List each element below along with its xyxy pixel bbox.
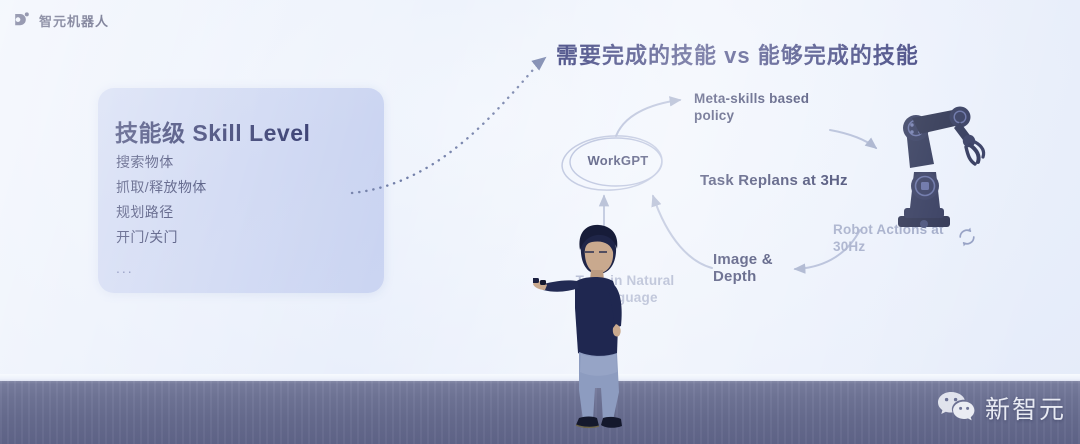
list-item: 搜索物体 (116, 150, 366, 175)
list-item: 开门/关门 (116, 225, 366, 250)
label-line: Meta-skills based (694, 90, 809, 107)
label-line: 30Hz (833, 238, 944, 255)
label-image-depth: Image & Depth (713, 251, 773, 285)
robot-arm-icon (880, 98, 990, 233)
presentation-screenshot: 智元机器人 技能级 Skill Level 搜索物体 抓取/释放物体 规划路径 … (0, 0, 1080, 444)
brand-logo: 智元机器人 (12, 10, 109, 30)
label-task-replans: Task Replans at 3Hz (700, 172, 848, 189)
wechat-icon (937, 389, 977, 426)
label-line: policy (694, 107, 809, 124)
label-meta-skills-policy: Meta-skills based policy (694, 90, 809, 124)
watermark-text: 新智元 (985, 390, 1066, 426)
dcircle-logo-icon (12, 10, 32, 30)
skill-level-card: 技能级 Skill Level 搜索物体 抓取/释放物体 规划路径 开门/关门 … (98, 88, 384, 293)
label-line: Image & (713, 251, 773, 268)
slide-headline: 需要完成的技能 vs 能够完成的技能 (556, 38, 919, 70)
watermark: 新智元 (937, 389, 1066, 426)
skill-card-title: 技能级 Skill Level (115, 114, 310, 148)
skill-card-list: 搜索物体 抓取/释放物体 规划路径 开门/关门 ... (116, 150, 366, 280)
brand-name: 智元机器人 (39, 11, 109, 30)
list-item: 抓取/释放物体 (116, 175, 366, 200)
workgpt-node-label: WorkGPT (575, 153, 661, 168)
speaker-person (533, 222, 653, 432)
list-item-ellipsis: ... (116, 250, 366, 280)
label-line: Depth (713, 268, 773, 285)
list-item: 规划路径 (116, 200, 366, 225)
